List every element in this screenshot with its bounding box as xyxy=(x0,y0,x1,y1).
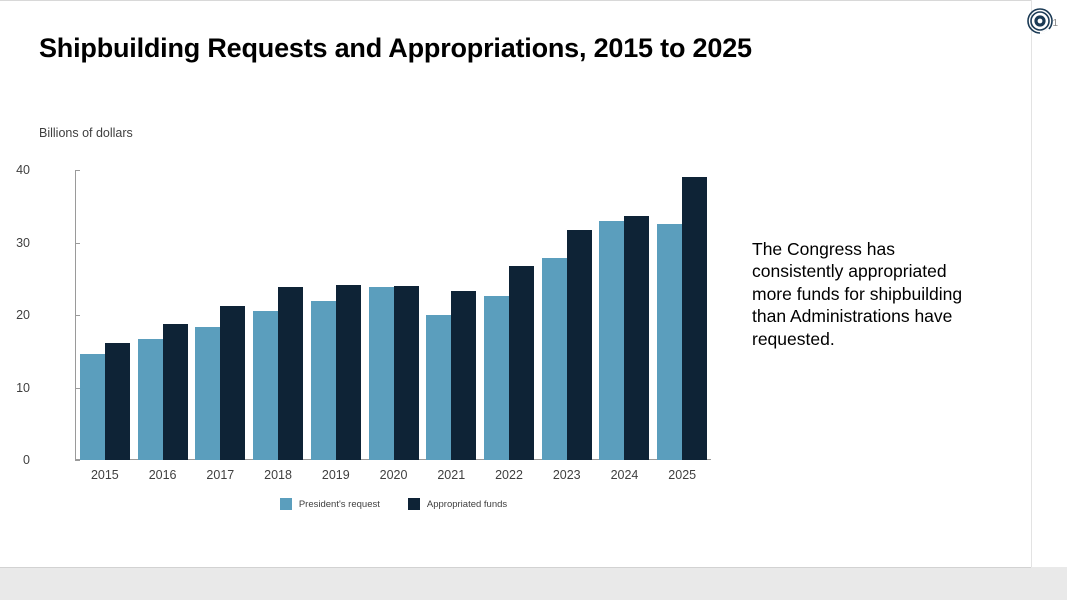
bar xyxy=(369,287,394,460)
bar-group xyxy=(134,170,192,460)
slide: Shipbuilding Requests and Appropriations… xyxy=(0,0,1067,600)
bar xyxy=(253,311,278,460)
chart-legend: President's requestAppropriated funds xyxy=(76,498,711,510)
x-axis-tick-label: 2018 xyxy=(249,468,307,482)
page-number: 1 xyxy=(1052,18,1058,29)
bar xyxy=(682,177,707,460)
bar-group xyxy=(480,170,538,460)
y-axis-tick-label: 20 xyxy=(16,308,30,322)
page-title: Shipbuilding Requests and Appropriations… xyxy=(39,33,752,64)
x-axis-tick-label: 2024 xyxy=(596,468,654,482)
x-axis-tick-label: 2020 xyxy=(365,468,423,482)
x-axis-tick-label: 2017 xyxy=(191,468,249,482)
bar xyxy=(624,216,649,460)
bar xyxy=(220,306,245,460)
bar-group xyxy=(191,170,249,460)
footer-bar xyxy=(0,567,1067,600)
bar xyxy=(195,327,220,460)
bar-group xyxy=(307,170,365,460)
bar xyxy=(509,266,534,460)
bar xyxy=(311,301,336,461)
x-axis-labels: 2015201620172018201920202021202220232024… xyxy=(76,468,711,482)
x-axis-tick-label: 2025 xyxy=(653,468,711,482)
bar-group xyxy=(653,170,711,460)
bar-group xyxy=(249,170,307,460)
legend-swatch xyxy=(280,498,292,510)
bar-group xyxy=(365,170,423,460)
bar xyxy=(278,287,303,460)
y-axis-tick-label: 10 xyxy=(16,381,30,395)
header-divider xyxy=(0,0,1031,1)
bar xyxy=(451,291,476,460)
axis-units-label: Billions of dollars xyxy=(39,126,133,140)
y-axis-tick xyxy=(75,460,80,461)
bar xyxy=(105,343,130,460)
bar xyxy=(542,258,567,460)
y-axis-tick-label: 0 xyxy=(23,453,30,467)
x-axis-tick-label: 2022 xyxy=(480,468,538,482)
bar xyxy=(426,315,451,460)
bar-group xyxy=(76,170,134,460)
bar-group xyxy=(596,170,654,460)
legend-item: President's request xyxy=(280,498,380,510)
x-axis-tick-label: 2021 xyxy=(422,468,480,482)
bar xyxy=(80,354,105,460)
x-axis-tick-label: 2019 xyxy=(307,468,365,482)
bar-groups xyxy=(76,170,711,460)
legend-item: Appropriated funds xyxy=(408,498,507,510)
footer-right-cap xyxy=(1031,567,1067,600)
x-axis-tick-label: 2015 xyxy=(76,468,134,482)
bar xyxy=(599,221,624,460)
bar xyxy=(138,339,163,460)
x-axis-tick-label: 2023 xyxy=(538,468,596,482)
bar-group xyxy=(422,170,480,460)
legend-label: President's request xyxy=(299,499,380,510)
bar-group xyxy=(538,170,596,460)
bar xyxy=(163,324,188,460)
cbo-logo-icon xyxy=(1027,8,1053,34)
bar xyxy=(394,286,419,460)
right-margin-panel xyxy=(1031,0,1067,567)
bar xyxy=(484,296,509,460)
callout-text: The Congress has consistently appropriat… xyxy=(752,238,984,350)
y-axis-tick-label: 40 xyxy=(16,163,30,177)
legend-label: Appropriated funds xyxy=(427,499,507,510)
y-axis-tick-label: 30 xyxy=(16,236,30,250)
bar xyxy=(336,285,361,460)
shipbuilding-bar-chart: 010203040 201520162017201820192020202120… xyxy=(39,160,719,505)
x-axis-tick-label: 2016 xyxy=(134,468,192,482)
bar xyxy=(657,224,682,460)
legend-swatch xyxy=(408,498,420,510)
bar xyxy=(567,230,592,460)
